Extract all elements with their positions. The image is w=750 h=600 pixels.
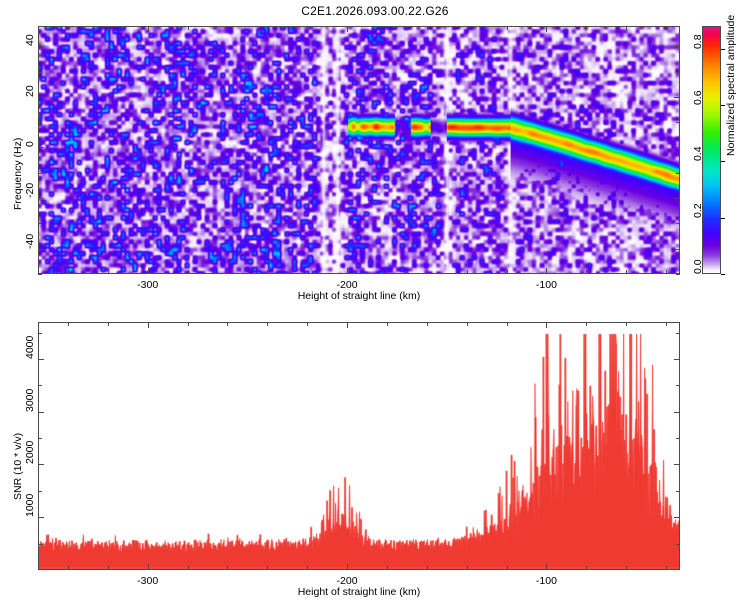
x-minor-tick: [267, 566, 268, 570]
y-minor-tick: [676, 274, 680, 275]
x-minor-tick: [227, 566, 228, 570]
x-minor-tick: [507, 322, 508, 326]
x-tick-label: -300: [137, 575, 158, 587]
x-minor-tick: [227, 26, 228, 30]
y-tick: [674, 412, 680, 413]
x-minor-tick: [267, 322, 268, 326]
x-minor-tick: [267, 270, 268, 274]
y-tick: [38, 517, 44, 518]
page-title: C2E1.2026.093.00.22.G26: [0, 4, 750, 18]
y-minor-tick: [38, 173, 42, 174]
x-tick: [546, 564, 547, 570]
x-minor-tick: [227, 322, 228, 326]
x-tick: [148, 26, 149, 32]
y-minor-tick: [676, 122, 680, 123]
y-minor-tick: [38, 544, 42, 545]
x-minor-tick: [626, 26, 627, 30]
x-minor-tick: [188, 270, 189, 274]
x-minor-tick: [586, 26, 587, 30]
y-tick: [674, 359, 680, 360]
y-tick: [674, 198, 680, 199]
y-minor-tick: [676, 438, 680, 439]
y-tick: [38, 412, 44, 413]
x-minor-tick: [188, 322, 189, 326]
x-minor-tick: [68, 322, 69, 326]
x-minor-tick: [227, 270, 228, 274]
colorbar-title: Normalized spectral amplitude: [725, 15, 737, 156]
colorbar-tick: [721, 218, 725, 219]
y-minor-tick: [38, 491, 42, 492]
x-tick-label: -300: [137, 279, 158, 291]
x-tick: [148, 564, 149, 570]
colorbar-tick: [721, 274, 725, 275]
x-tick: [546, 26, 547, 32]
x-minor-tick: [427, 322, 428, 326]
y-minor-tick: [38, 274, 42, 275]
x-minor-tick: [307, 322, 308, 326]
y-minor-tick: [38, 223, 42, 224]
x-minor-tick: [626, 270, 627, 274]
y-minor-tick: [676, 223, 680, 224]
x-tick: [148, 268, 149, 274]
x-tick: [347, 268, 348, 274]
y-tick: [38, 359, 44, 360]
y-minor-tick: [38, 333, 42, 334]
y-tick: [674, 147, 680, 148]
spectrogram-canvas: [39, 27, 679, 273]
snr-x-axis-title: Height of straight line (km): [298, 586, 421, 598]
y-tick: [674, 464, 680, 465]
figure-root: C2E1.2026.093.00.22.G26 -300-200-100-40-…: [0, 0, 750, 600]
y-tick: [674, 517, 680, 518]
x-tick: [546, 322, 547, 328]
x-tick: [347, 564, 348, 570]
x-minor-tick: [467, 322, 468, 326]
x-minor-tick: [108, 322, 109, 326]
x-minor-tick: [586, 566, 587, 570]
x-minor-tick: [108, 26, 109, 30]
y-minor-tick: [38, 438, 42, 439]
y-minor-tick: [676, 173, 680, 174]
y-tick: [38, 464, 44, 465]
x-minor-tick: [666, 26, 667, 30]
x-minor-tick: [307, 270, 308, 274]
x-minor-tick: [586, 322, 587, 326]
y-tick: [38, 147, 44, 148]
y-minor-tick: [676, 544, 680, 545]
y-minor-tick: [38, 385, 42, 386]
x-minor-tick: [507, 566, 508, 570]
x-minor-tick: [666, 566, 667, 570]
x-minor-tick: [427, 270, 428, 274]
x-minor-tick: [427, 566, 428, 570]
snr-y-axis-title: SNR (10 * v/v): [12, 433, 24, 500]
x-minor-tick: [387, 322, 388, 326]
y-tick: [674, 97, 680, 98]
x-minor-tick: [267, 26, 268, 30]
y-minor-tick: [676, 72, 680, 73]
x-minor-tick: [507, 270, 508, 274]
x-tick-label: -100: [536, 575, 557, 587]
y-tick: [38, 198, 44, 199]
x-tick: [347, 26, 348, 32]
x-minor-tick: [108, 566, 109, 570]
x-minor-tick: [666, 322, 667, 326]
colorbar: [702, 26, 721, 274]
snr-canvas: [39, 323, 679, 569]
x-minor-tick: [188, 26, 189, 30]
x-tick: [347, 322, 348, 328]
y-tick: [38, 46, 44, 47]
y-minor-tick: [676, 333, 680, 334]
x-minor-tick: [307, 566, 308, 570]
y-tick: [38, 97, 44, 98]
x-minor-tick: [387, 270, 388, 274]
x-minor-tick: [427, 26, 428, 30]
colorbar-tick: [721, 161, 725, 162]
x-minor-tick: [666, 270, 667, 274]
x-minor-tick: [467, 26, 468, 30]
y-tick: [38, 249, 44, 250]
y-minor-tick: [38, 72, 42, 73]
x-minor-tick: [387, 26, 388, 30]
spectrogram-x-axis-title: Height of straight line (km): [298, 290, 421, 302]
y-tick: [674, 249, 680, 250]
x-minor-tick: [68, 270, 69, 274]
y-tick: [674, 46, 680, 47]
x-tick: [148, 322, 149, 328]
y-minor-tick: [676, 385, 680, 386]
x-tick: [546, 268, 547, 274]
y-minor-tick: [38, 122, 42, 123]
snr-panel: [38, 322, 680, 570]
x-minor-tick: [68, 566, 69, 570]
x-minor-tick: [626, 322, 627, 326]
x-minor-tick: [626, 566, 627, 570]
spectrogram-panel: [38, 26, 680, 274]
x-minor-tick: [68, 26, 69, 30]
x-minor-tick: [507, 26, 508, 30]
x-minor-tick: [108, 270, 109, 274]
x-tick-label: -100: [536, 279, 557, 291]
x-minor-tick: [307, 26, 308, 30]
x-minor-tick: [467, 566, 468, 570]
x-minor-tick: [467, 270, 468, 274]
spectrogram-y-axis-title: Frequency (Hz): [12, 138, 24, 210]
x-minor-tick: [188, 566, 189, 570]
y-minor-tick: [676, 491, 680, 492]
x-minor-tick: [586, 270, 587, 274]
x-minor-tick: [387, 566, 388, 570]
